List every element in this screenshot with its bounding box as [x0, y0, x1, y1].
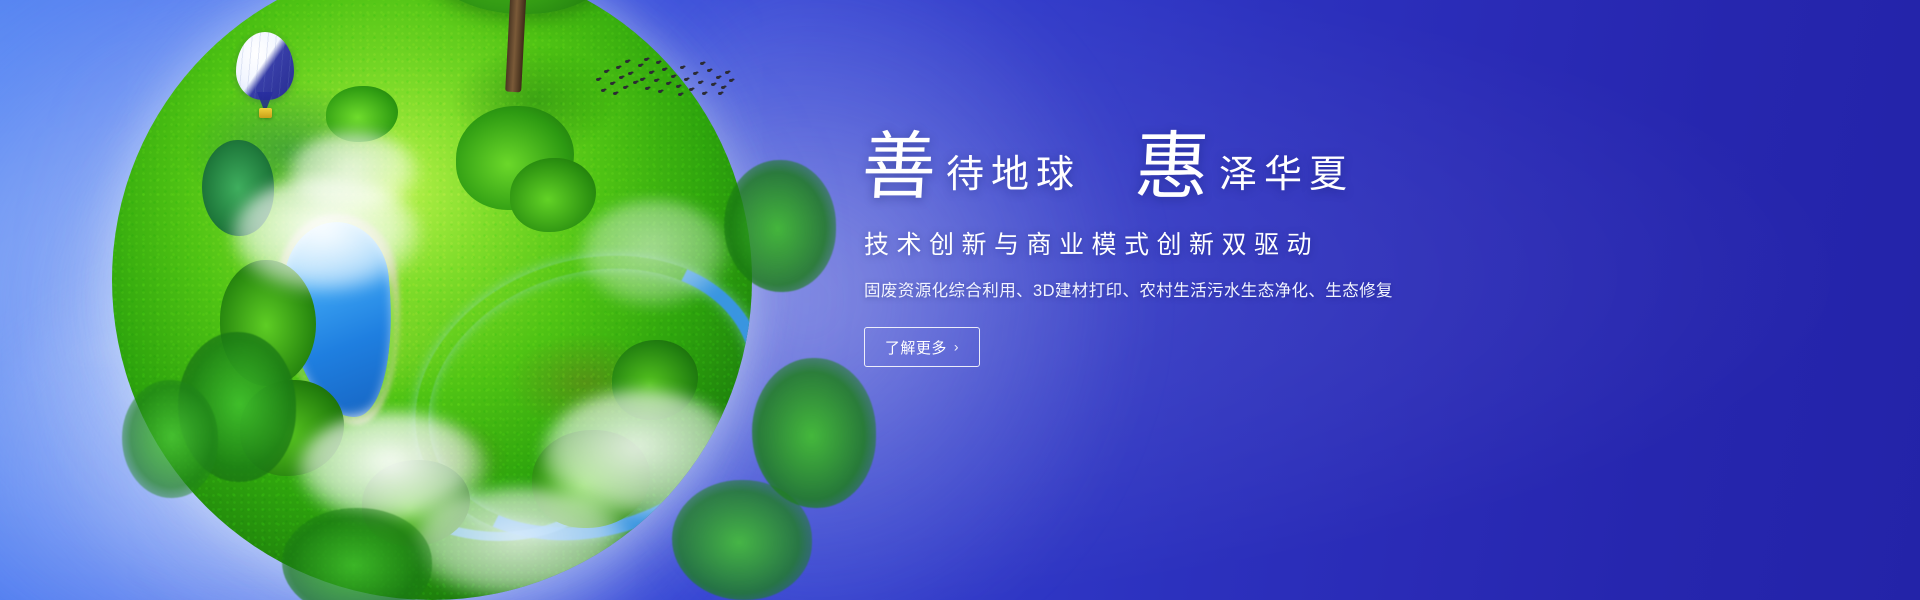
bird-icon	[654, 79, 658, 82]
learn-more-button[interactable]: 了解更多 ›	[864, 327, 980, 367]
bird-icon	[676, 85, 680, 88]
rim-tree-icon	[724, 160, 836, 292]
bird-icon	[656, 61, 660, 64]
chevron-right-icon: ›	[954, 339, 959, 355]
page-description: 固废资源化综合利用、3D建材打印、农村生活污水生态净化、生态修复	[864, 277, 1582, 301]
bird-icon	[625, 60, 629, 63]
headline-primary-char-two: 惠	[1133, 132, 1211, 203]
bird-icon	[671, 75, 675, 78]
bird-icon	[638, 64, 642, 67]
bird-icon	[698, 81, 702, 84]
balloon-basket	[259, 108, 272, 118]
page-title: 善 待地球 惠 泽华夏	[862, 132, 1582, 203]
cloud-icon	[580, 200, 730, 308]
bird-icon	[596, 78, 600, 81]
headline-group-two: 惠 泽华夏	[1135, 132, 1354, 203]
bird-icon	[616, 66, 620, 69]
headline-secondary-text-two: 泽华夏	[1209, 155, 1354, 203]
bird-icon	[649, 71, 653, 74]
bird-icon	[684, 78, 688, 81]
rim-tree-icon	[122, 380, 218, 498]
learn-more-label: 了解更多	[885, 337, 947, 358]
bird-icon	[662, 68, 666, 71]
bird-icon	[645, 87, 649, 90]
bird-icon	[711, 83, 715, 86]
bird-icon	[725, 71, 729, 74]
headline-group-one: 善 待地球	[862, 132, 1081, 203]
bird-icon	[613, 92, 617, 95]
bird-icon	[693, 72, 697, 75]
bird-icon	[604, 70, 608, 73]
bird-icon	[666, 82, 670, 85]
bird-icon	[680, 66, 684, 69]
bird-icon	[628, 72, 632, 75]
bird-icon	[640, 78, 644, 81]
tree-icon	[412, 0, 622, 74]
bird-icon	[700, 62, 704, 65]
bird-icon	[619, 76, 623, 79]
bird-icon	[658, 90, 662, 93]
hero-banner: 善 待地球 惠 泽华夏 技术创新与商业模式创新双驱动 固废资源化综合利用、3D建…	[0, 0, 1920, 600]
bird-icon	[633, 81, 637, 84]
hot-air-balloon-icon	[236, 32, 294, 124]
cloud-icon	[288, 132, 420, 214]
rim-tree-icon	[672, 480, 812, 600]
bird-icon	[707, 69, 711, 72]
bird-icon	[702, 92, 706, 95]
bird-icon	[716, 76, 720, 79]
bird-icon	[623, 86, 627, 89]
bird-flock-icon	[592, 48, 732, 96]
headline-primary-char-one: 善	[860, 132, 938, 203]
bird-icon	[610, 82, 614, 85]
bird-icon	[644, 58, 648, 61]
balloon-taper	[257, 92, 273, 108]
headline-secondary-text-one: 待地球	[936, 155, 1081, 203]
balloon-envelope	[236, 32, 294, 100]
cloud-icon	[412, 488, 632, 600]
hero-content: 善 待地球 惠 泽华夏 技术创新与商业模式创新双驱动 固废资源化综合利用、3D建…	[862, 132, 1582, 367]
page-subtitle: 技术创新与商业模式创新双驱动	[864, 225, 1582, 261]
bird-icon	[678, 93, 682, 96]
bird-icon	[729, 79, 733, 82]
bird-icon	[721, 86, 725, 89]
bird-icon	[601, 89, 605, 92]
bird-icon	[689, 88, 693, 91]
bird-icon	[718, 92, 722, 95]
